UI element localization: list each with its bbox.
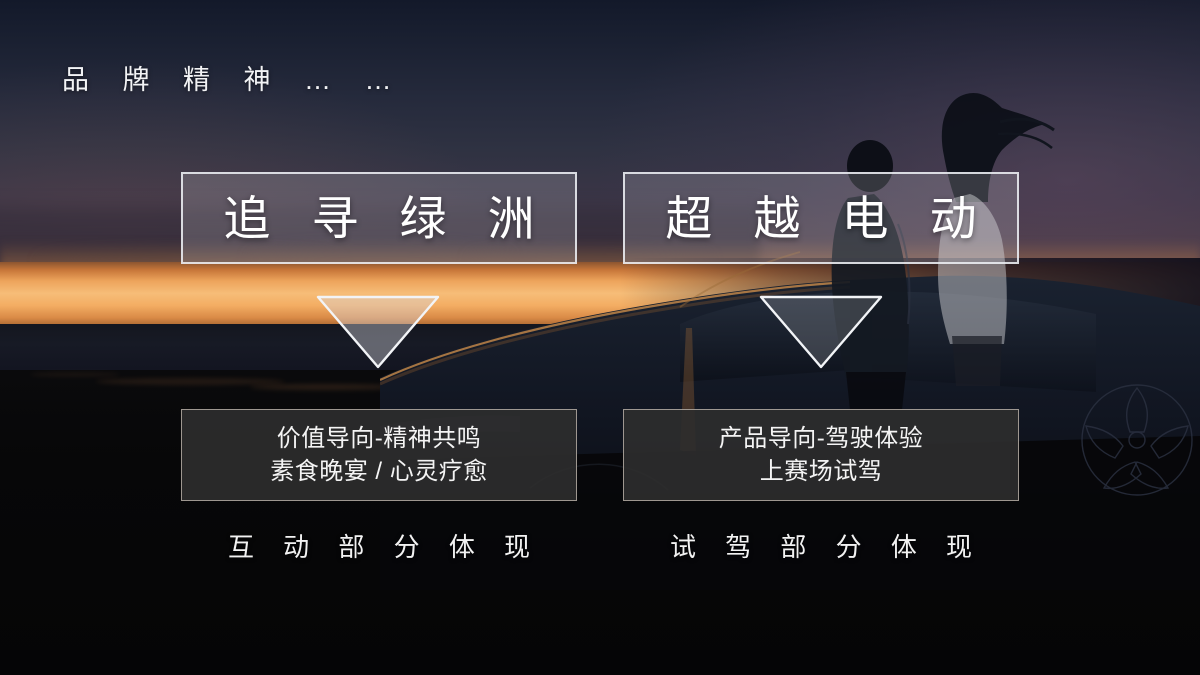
headline-label-right: 超 越 电 动 [651, 195, 990, 242]
slide-content: 品 牌 精 神 … … 追 寻 绿 洲 价值导向-精神共鸣 素食晚宴 / 心灵疗… [0, 0, 1200, 675]
presentation-slide: 品 牌 精 神 … … 追 寻 绿 洲 价值导向-精神共鸣 素食晚宴 / 心灵疗… [0, 0, 1200, 675]
down-arrow-right-icon [759, 294, 883, 370]
headline-label-left: 追 寻 绿 洲 [209, 195, 548, 242]
detail-line-left-2: 素食晚宴 / 心灵疗愈 [270, 455, 488, 488]
headline-box-right[interactable]: 超 越 电 动 [623, 172, 1019, 264]
caption-right: 试 驾 部 分 体 现 [623, 527, 1019, 564]
detail-box-right[interactable]: 产品导向-驾驶体验 上赛场试驾 [623, 409, 1019, 501]
caption-left: 互 动 部 分 体 现 [181, 527, 577, 564]
detail-line-right-1: 产品导向-驾驶体验 [719, 422, 924, 455]
down-arrow-left-icon [316, 294, 440, 370]
detail-line-left-1: 价值导向-精神共鸣 [277, 422, 482, 455]
detail-box-left[interactable]: 价值导向-精神共鸣 素食晚宴 / 心灵疗愈 [181, 409, 577, 501]
headline-box-left[interactable]: 追 寻 绿 洲 [181, 172, 577, 264]
page-title: 品 牌 精 神 … … [62, 58, 405, 97]
detail-line-right-2: 上赛场试驾 [760, 455, 883, 488]
